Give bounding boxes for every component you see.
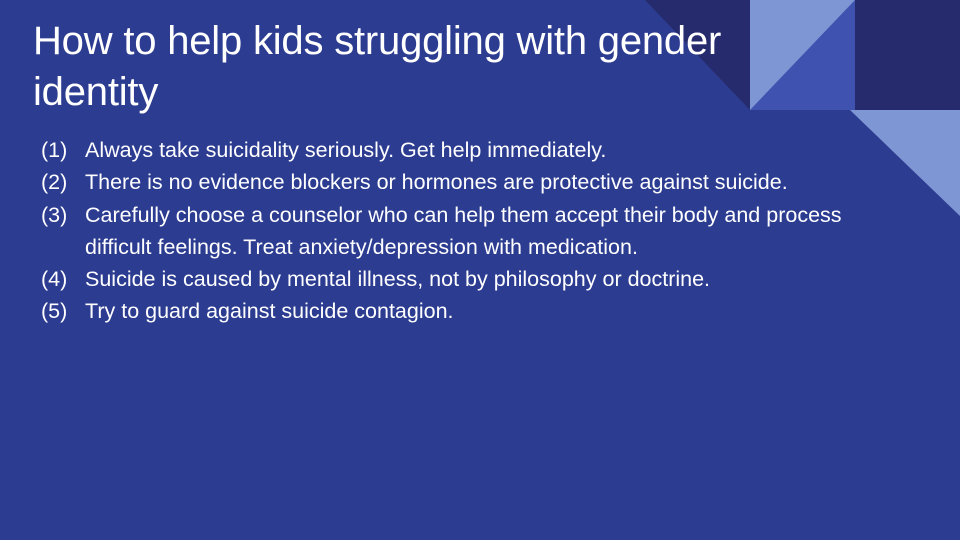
list-item: (4) Suicide is caused by mental illness,… <box>41 263 921 295</box>
list-item-text: Suicide is caused by mental illness, not… <box>85 263 921 295</box>
list-item: (3) Carefully choose a counselor who can… <box>41 199 921 264</box>
list-item-text: Try to guard against suicide contagion. <box>85 295 921 327</box>
slide-body-list: (1) Always take suicidality seriously. G… <box>41 134 921 328</box>
list-item-text: Carefully choose a counselor who can hel… <box>85 199 921 264</box>
list-item: (2) There is no evidence blockers or hor… <box>41 166 921 198</box>
list-item-number: (4) <box>41 263 85 295</box>
list-item: (1) Always take suicidality seriously. G… <box>41 134 921 166</box>
list-item-number: (1) <box>41 134 85 166</box>
list-item-number: (2) <box>41 166 85 198</box>
list-item-number: (5) <box>41 295 85 327</box>
list-item: (5) Try to guard against suicide contagi… <box>41 295 921 327</box>
presentation-slide: How to help kids struggling with gender … <box>0 0 960 540</box>
list-item-text: Always take suicidality seriously. Get h… <box>85 134 921 166</box>
slide-title: How to help kids struggling with gender … <box>33 16 845 118</box>
decorative-navy-block <box>855 0 960 110</box>
list-item-text: There is no evidence blockers or hormone… <box>85 166 921 198</box>
list-item-number: (3) <box>41 199 85 231</box>
